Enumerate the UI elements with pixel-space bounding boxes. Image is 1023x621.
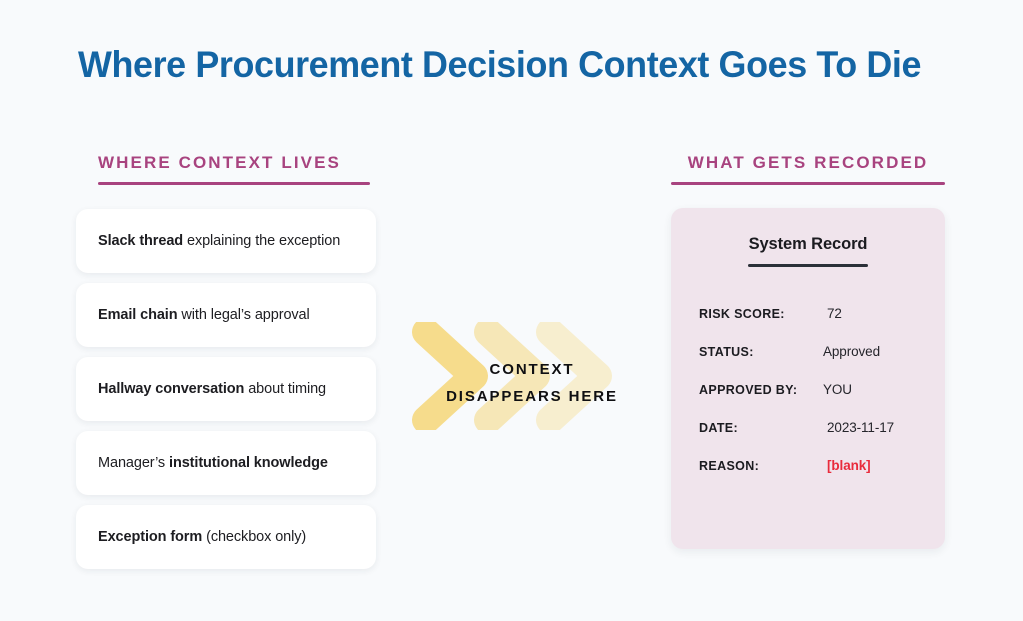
right-header-underline xyxy=(671,182,945,185)
system-record-field-value: 72 xyxy=(817,306,842,321)
context-loss-label-line1: CONTEXT xyxy=(396,356,668,383)
page-title: Where Procurement Decision Context Goes … xyxy=(78,42,932,88)
system-record-field-value: YOU xyxy=(817,382,852,397)
context-loss-arrows: CONTEXT DISAPPEARS HERE xyxy=(412,322,652,430)
context-source-text: Slack thread explaining the exception xyxy=(98,231,340,251)
system-record-row: STATUS:Approved xyxy=(699,344,921,382)
left-column-header: WHERE CONTEXT LIVES xyxy=(98,152,341,174)
system-record-field-value: 2023-11-17 xyxy=(817,420,894,435)
context-source-card[interactable]: Email chain with legal’s approval xyxy=(76,283,376,347)
system-record-field-label: REASON: xyxy=(699,459,817,473)
context-source-card[interactable]: Hallway conversation about timing xyxy=(76,357,376,421)
system-record-field-label: APPROVED BY: xyxy=(699,383,817,397)
system-record-row: REASON:[blank] xyxy=(699,458,921,496)
context-source-text: Hallway conversation about timing xyxy=(98,379,326,399)
system-record-field-label: DATE: xyxy=(699,421,817,435)
system-record-field-label: STATUS: xyxy=(699,345,817,359)
system-record-field-value: Approved xyxy=(817,344,880,359)
context-source-list: Slack thread explaining the exceptionEma… xyxy=(76,209,376,579)
system-record-row: APPROVED BY:YOU xyxy=(699,382,921,420)
system-record-title-underline xyxy=(748,264,868,267)
context-source-text: Manager’s institutional knowledge xyxy=(98,453,328,473)
context-source-card[interactable]: Manager’s institutional knowledge xyxy=(76,431,376,495)
context-source-emphasis: Exception form xyxy=(98,529,202,545)
system-record-title: System Record xyxy=(671,235,945,254)
context-source-card[interactable]: Slack thread explaining the exception xyxy=(76,209,376,273)
context-source-emphasis: Email chain xyxy=(98,307,178,323)
system-record-field-value-missing: [blank] xyxy=(817,458,871,473)
right-column-header: WHAT GETS RECORDED xyxy=(671,152,945,174)
context-source-emphasis: institutional knowledge xyxy=(169,455,328,471)
context-loss-label-line2: DISAPPEARS HERE xyxy=(396,383,668,410)
system-record-row: DATE:2023-11-17 xyxy=(699,420,921,458)
context-source-emphasis: Hallway conversation xyxy=(98,381,244,397)
system-record-field-label: RISK SCORE: xyxy=(699,307,817,321)
infographic-canvas: Where Procurement Decision Context Goes … xyxy=(0,0,1023,621)
context-source-text: Exception form (checkbox only) xyxy=(98,527,306,547)
system-record-panel: System Record RISK SCORE:72STATUS:Approv… xyxy=(671,208,945,549)
left-header-underline xyxy=(98,182,370,185)
context-source-emphasis: Slack thread xyxy=(98,233,183,249)
system-record-row: RISK SCORE:72 xyxy=(699,306,921,344)
system-record-fields: RISK SCORE:72STATUS:ApprovedAPPROVED BY:… xyxy=(699,306,921,496)
context-source-text: Email chain with legal’s approval xyxy=(98,305,310,325)
context-loss-label: CONTEXT DISAPPEARS HERE xyxy=(396,356,668,410)
context-source-card[interactable]: Exception form (checkbox only) xyxy=(76,505,376,569)
